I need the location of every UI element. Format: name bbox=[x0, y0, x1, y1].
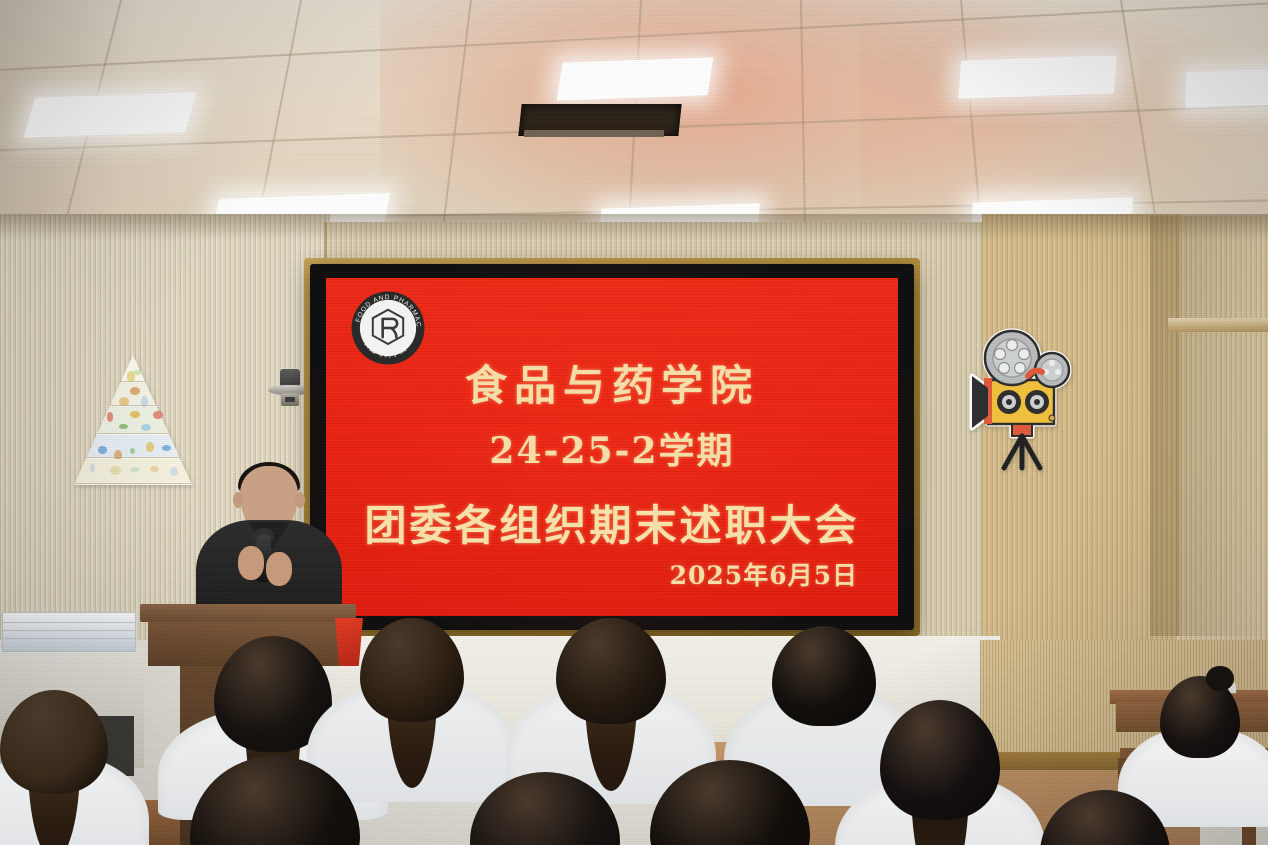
food-pyramid-poster bbox=[74, 355, 192, 485]
pyramid-food-item bbox=[130, 387, 140, 394]
led-display-surface[interactable]: FOOD AND PHARMACY COLLEGE 食品与药学院 bbox=[326, 278, 898, 616]
audience-hair-bun bbox=[1206, 666, 1233, 691]
presenter-ear-right bbox=[295, 492, 305, 508]
ceiling-vent-lip bbox=[524, 130, 665, 137]
presenter-hand-left bbox=[238, 546, 264, 580]
pyramid-divider bbox=[110, 405, 155, 406]
ceiling-warm-tint-right bbox=[860, 0, 1268, 232]
ceiling-light-panel bbox=[1185, 68, 1268, 108]
wall-corner-shadow bbox=[1150, 216, 1268, 636]
paper-stack bbox=[2, 612, 136, 652]
pyramid-food-item bbox=[130, 411, 140, 418]
pyramid-divider bbox=[121, 381, 145, 382]
presenter-hand-right bbox=[266, 552, 292, 586]
pyramid-food-item bbox=[130, 467, 139, 472]
screen-title-line2: 24-25-2学期 bbox=[326, 422, 898, 474]
speaker-port bbox=[285, 397, 295, 402]
pyramid-food-item bbox=[98, 446, 106, 454]
pyramid-food-item bbox=[107, 412, 113, 421]
presenter-ear-left bbox=[233, 492, 243, 508]
pyramid-food-item bbox=[114, 450, 122, 460]
college-seal-logo: FOOD AND PHARMACY COLLEGE 食品与药学院 bbox=[350, 290, 426, 366]
screen-text-block: 食品与药学院 24-25-2学期 团委各组织期末述职大会 bbox=[326, 362, 898, 553]
pyramid-food-item bbox=[130, 448, 135, 454]
pyramid-food-item bbox=[110, 466, 121, 475]
ceiling-light-panel bbox=[958, 55, 1116, 98]
wall-top-shadow bbox=[0, 214, 1268, 240]
wall-seam-right bbox=[1176, 216, 1179, 636]
podium-top bbox=[140, 604, 356, 622]
screen-title-line3: 团委各组织期末述职大会 bbox=[326, 492, 898, 553]
podium-red-banner bbox=[335, 618, 363, 666]
photo-scene: FOOD AND PHARMACY COLLEGE 食品与药学院 bbox=[0, 0, 1268, 845]
ceiling-light-panel bbox=[557, 57, 714, 100]
led-display-bezel[interactable]: FOOD AND PHARMACY COLLEGE 食品与药学院 bbox=[310, 264, 914, 630]
pyramid-divider bbox=[75, 483, 191, 484]
screen-date: 2025年6月5日 bbox=[670, 556, 858, 592]
movie-camera-sticker bbox=[968, 318, 1088, 478]
screen-title-line1: 食品与药学院 bbox=[326, 362, 898, 410]
pyramid-food-item bbox=[146, 442, 154, 452]
ceiling-light-panel bbox=[23, 92, 196, 138]
pyramid-divider bbox=[87, 457, 180, 458]
pyramid-divider bbox=[98, 433, 169, 434]
wall-ledge bbox=[1168, 318, 1268, 332]
ceiling bbox=[0, 0, 1268, 232]
pyramid-food-item bbox=[133, 370, 141, 375]
